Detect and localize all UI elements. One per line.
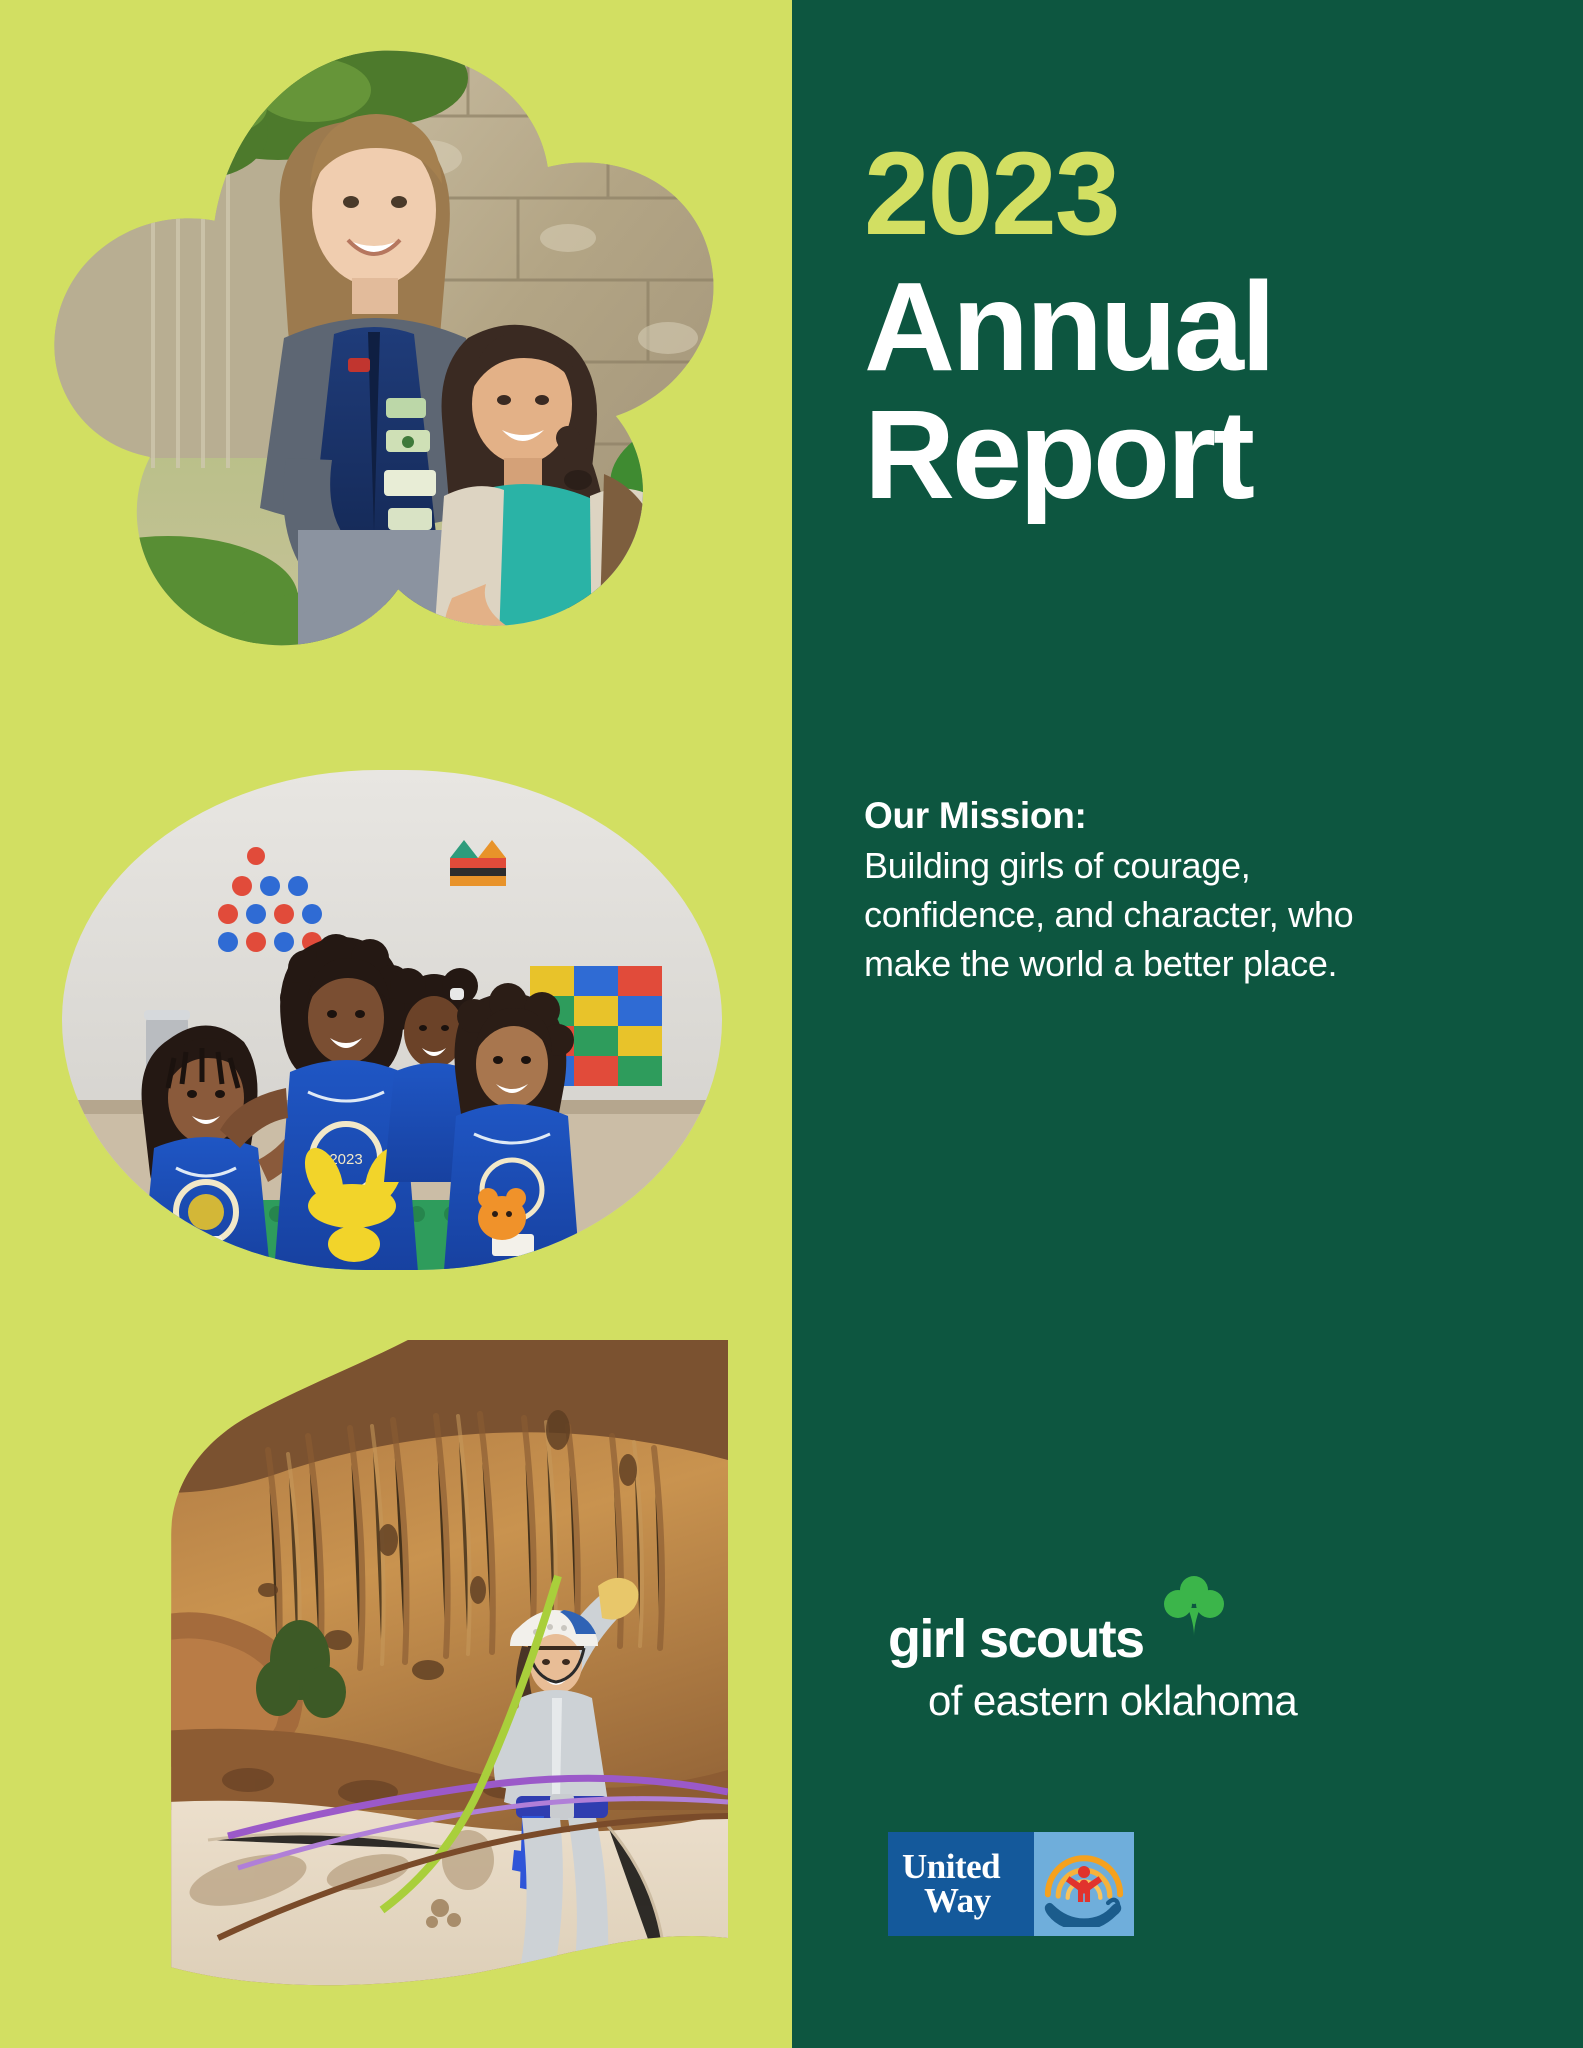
photo-column: 2023 bbox=[0, 0, 792, 2048]
girl-scouts-wordmark-row: girl scouts bbox=[880, 1612, 1360, 1666]
united-way-line-2: Way bbox=[902, 1884, 1034, 1918]
trefoil-icon bbox=[1162, 1574, 1226, 1638]
content-column: 2023 Annual Report Our Mission: Building… bbox=[792, 0, 1583, 2048]
united-way-line-1: United bbox=[902, 1850, 1034, 1884]
mission-body: Building girls of courage, confidence, a… bbox=[864, 842, 1424, 989]
annual-report-cover: 2023 bbox=[0, 0, 1583, 2048]
united-way-logo: United Way bbox=[888, 1832, 1134, 1936]
united-way-mark-panel bbox=[1034, 1832, 1134, 1936]
mission-statement: Our Mission: Building girls of courage, … bbox=[864, 795, 1424, 989]
title-line-2: Report bbox=[864, 391, 1504, 520]
united-way-rainbow-hand-icon bbox=[1041, 1841, 1127, 1927]
report-year: 2023 bbox=[864, 140, 1504, 249]
girl-scouts-wordmark: girl scouts bbox=[880, 1612, 1360, 1666]
mission-heading: Our Mission: bbox=[864, 795, 1424, 837]
girl-scouts-logo: girl scouts of eastern oklahoma bbox=[880, 1612, 1360, 1722]
title-line-1: Annual bbox=[864, 256, 1273, 397]
united-way-wordmark: United Way bbox=[888, 1832, 1034, 1936]
photo-troop-leader-and-girl-scout-hugging bbox=[48, 38, 728, 668]
page-title: Annual Report bbox=[864, 263, 1504, 520]
cover-title-block: 2023 Annual Report bbox=[864, 140, 1504, 520]
photo-girls-at-maker-fest: 2023 bbox=[62, 770, 722, 1270]
photo-girl-rappelling-canyon bbox=[88, 1340, 728, 1990]
council-name: of eastern oklahoma bbox=[880, 1680, 1360, 1722]
